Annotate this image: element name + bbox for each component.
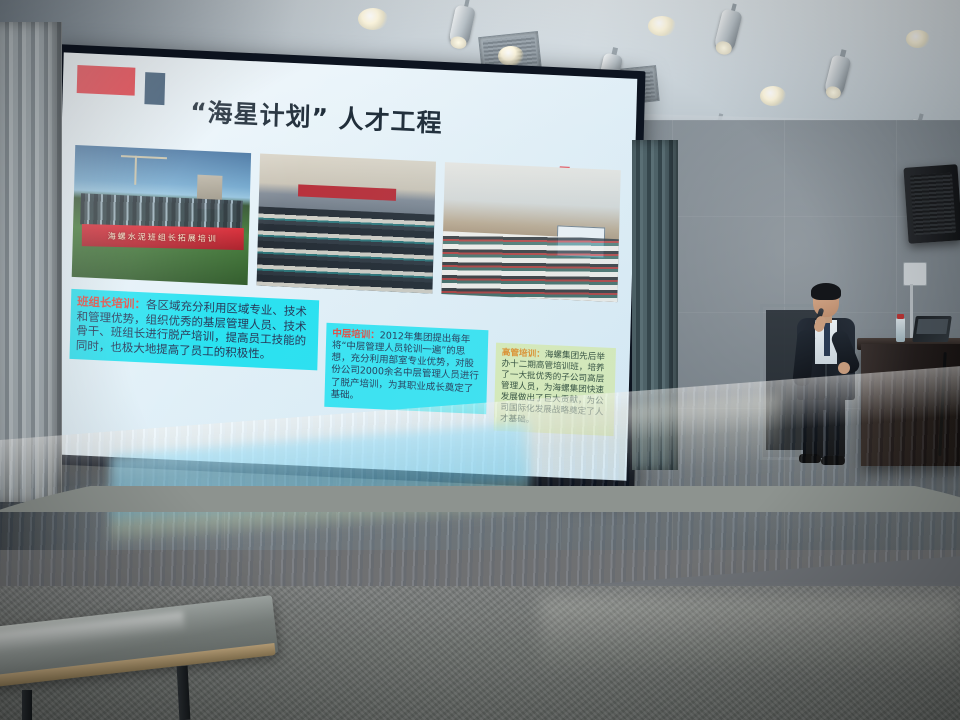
left-curtain [0,22,62,502]
outdoor-group-training-photo: 海螺水泥班组长拓展培训 [72,145,251,285]
slide-title: “海星计划” 人才工程 [190,92,611,147]
laptop[interactable] [912,316,952,342]
textbox-heading: 高管培训： [502,348,545,360]
ceiling-spotlight [498,46,524,66]
wall-outlet [903,262,927,286]
bottle-cap [897,314,904,319]
ceiling-spotlight [648,16,676,36]
auditorium-photo-scene: “海星计划” 人才工程 CONCH 海螺水泥班组长拓展培训 [0,0,960,720]
water-bottle[interactable] [896,318,905,342]
textbox-heading: 中层培训： [332,328,380,341]
photo-banner-text: 海螺水泥班组长拓展培训 [82,224,244,251]
ceiling-spotlight [358,8,388,30]
ceiling-spotlight [906,30,930,48]
conference-hall-photo [257,154,436,294]
red-accent-mark [77,65,136,96]
hair [811,283,841,300]
necktie [824,322,830,356]
textbox-middle-management-training: 中层培训：2012年集团提出每年将“中层管理人员轮训一遍”的思想，充分利用部室专… [324,323,488,414]
table-leg [22,690,32,720]
navy-accent-mark [144,72,165,105]
slide-photo-row: 海螺水泥班组长拓展培训 [72,145,621,302]
textbox-team-leader-training: 班组长培训：各区域充分利用区域专业、技术和管理优势，组织优秀的基层管理人员、技术… [69,289,319,370]
ceiling-spotlight [760,86,786,106]
auditorium-assembly-photo [441,162,620,302]
gesturing-hand [838,362,850,374]
wall-speaker [903,164,960,244]
textbox-body: 2012年集团提出每年将“中层管理人员轮训一遍”的思想，充分利用部室专业优势，对… [330,330,479,401]
